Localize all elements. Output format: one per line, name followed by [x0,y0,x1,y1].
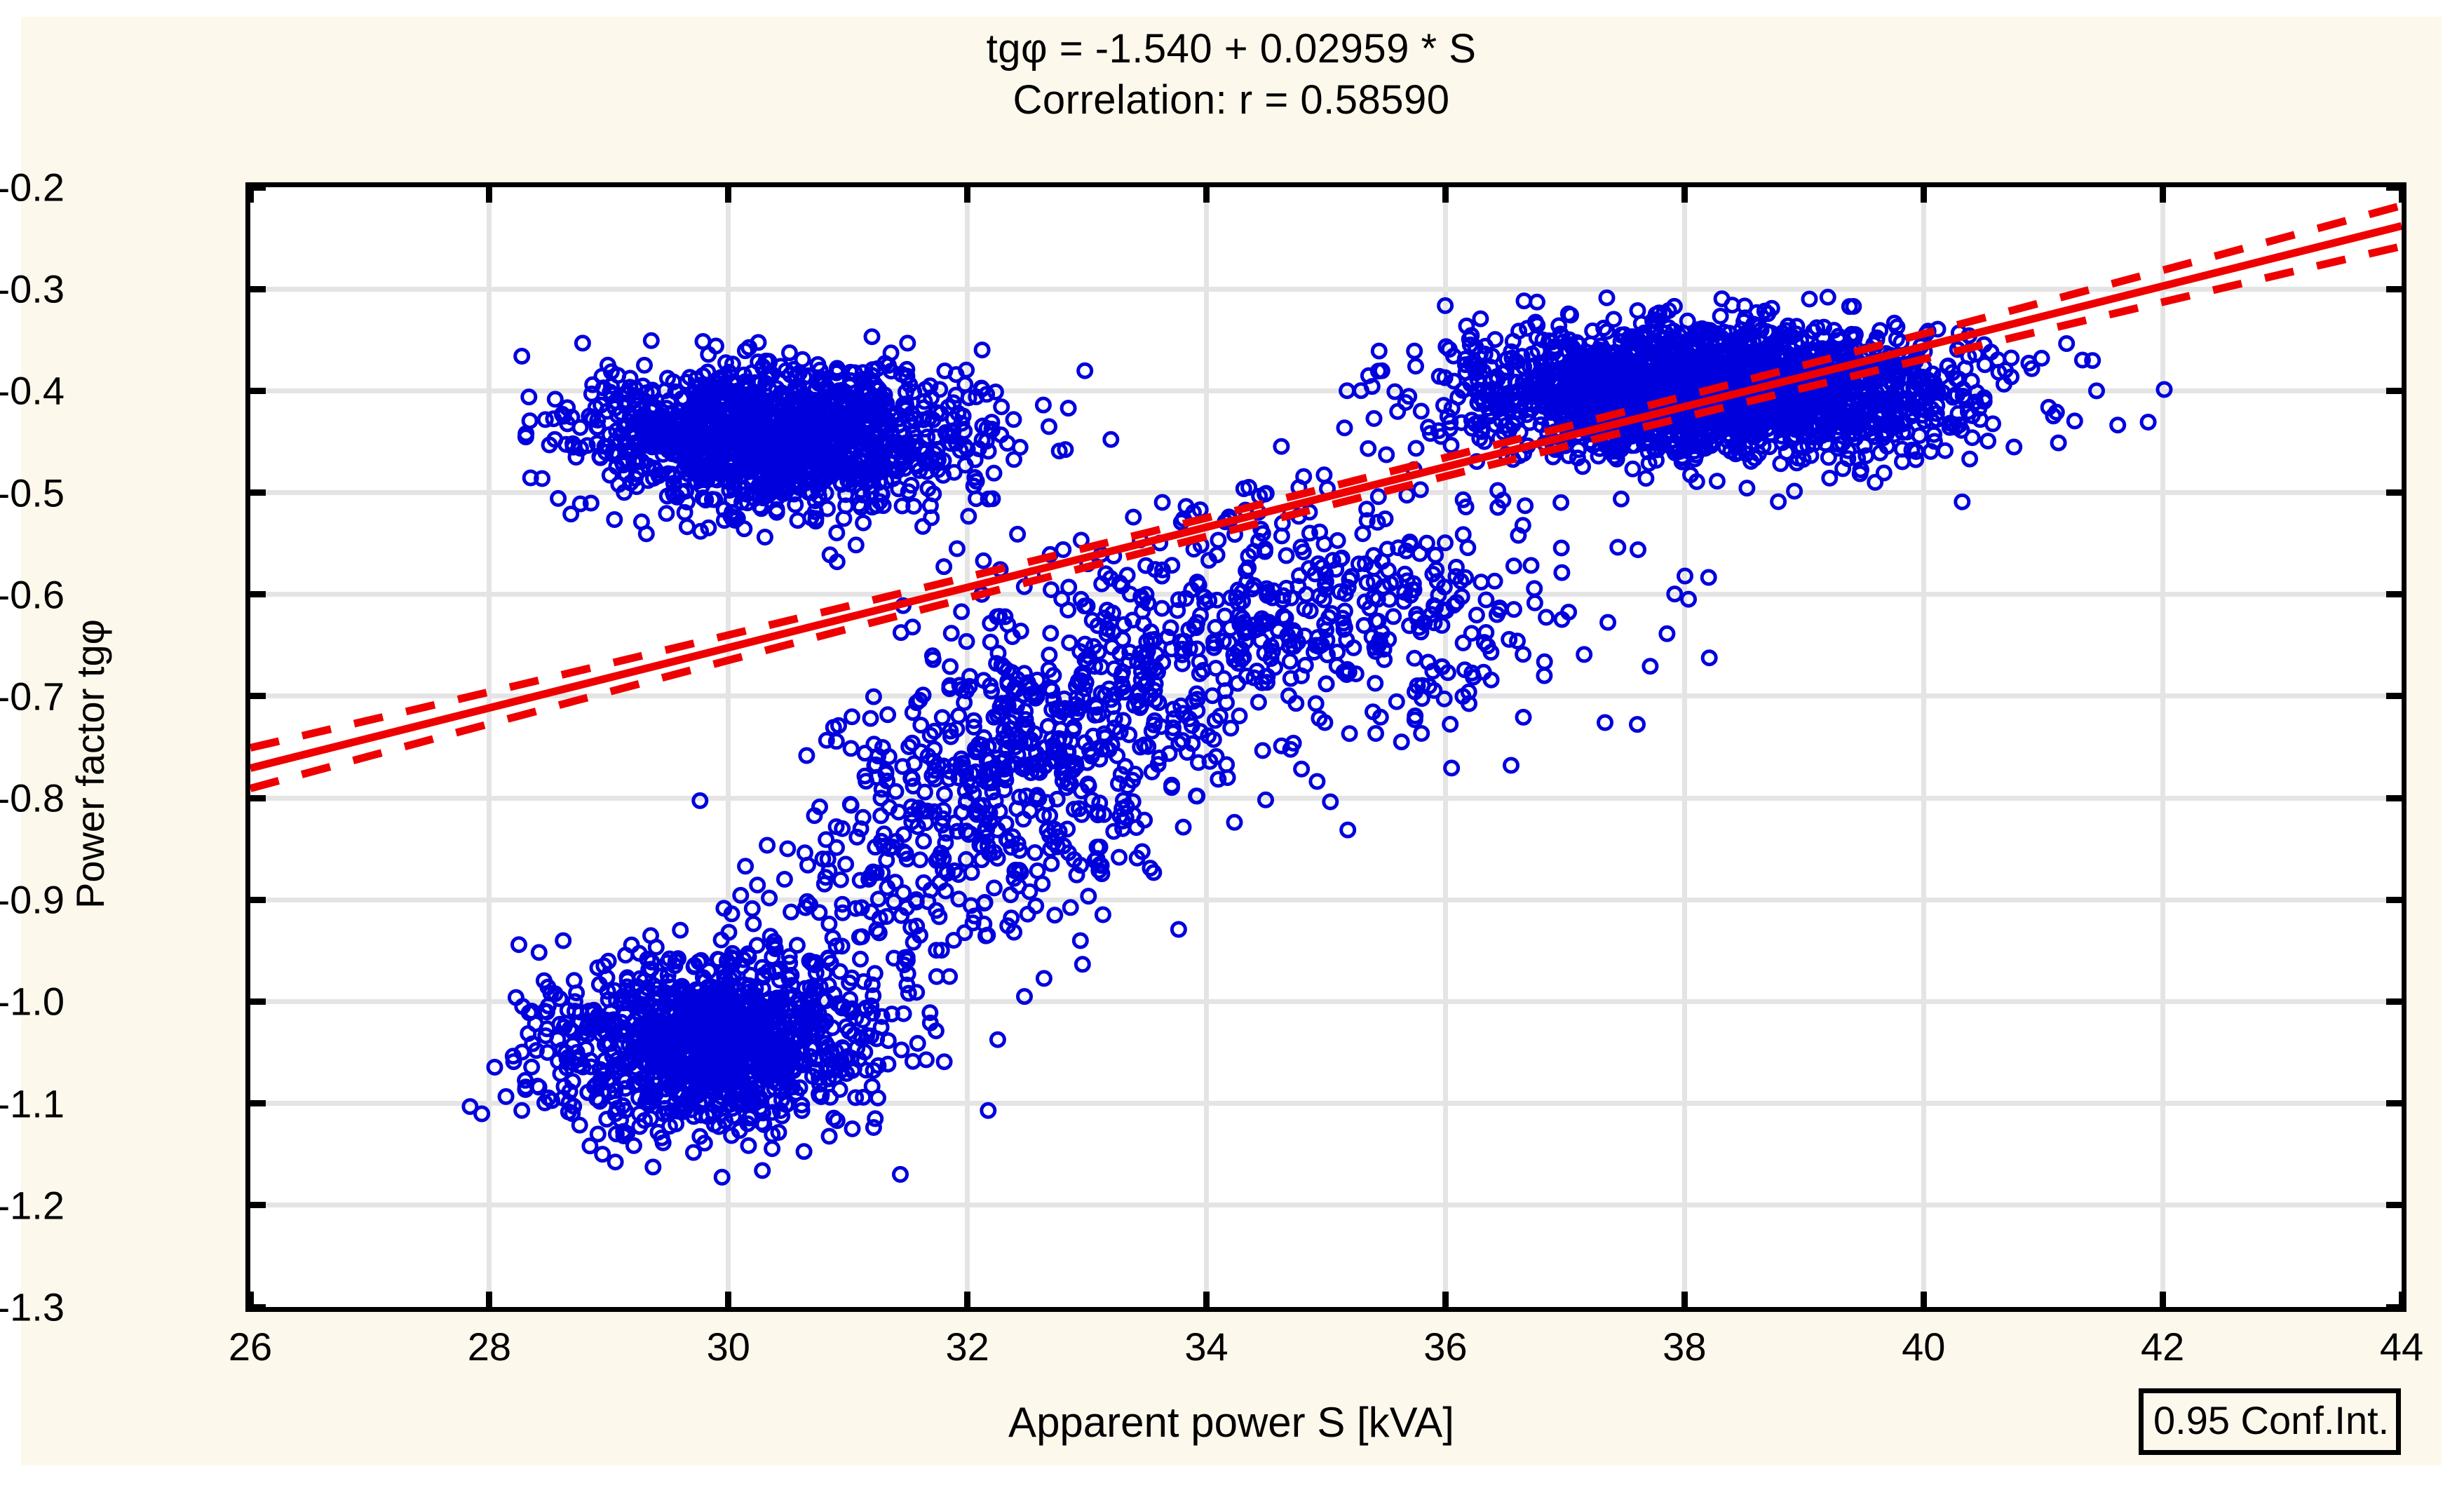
data-point [984,635,997,649]
data-point [1096,908,1109,921]
data-point [1036,398,1050,412]
data-point [800,749,813,762]
data-point [1372,344,1386,358]
data-point [609,1156,622,1169]
data-point [747,917,760,930]
data-point [911,1037,924,1050]
data-point [991,1033,1004,1046]
data-point [734,888,747,902]
data-point [1048,909,1062,922]
data-point [1228,815,1241,829]
chart-title-block: tgφ = -1.540 + 0.02959 * S Correlation: … [21,24,2442,126]
data-point [864,712,877,725]
data-point [1600,291,1613,304]
data-point [874,809,888,822]
data-point [564,508,578,521]
figure-canvas: tgφ = -1.540 + 0.02959 * S Correlation: … [21,17,2442,1465]
data-point [839,858,853,871]
data-point [1045,857,1058,870]
data-point [1963,452,1977,466]
data-point [1043,420,1056,433]
data-point [644,929,658,942]
plot-inner-canvas [250,187,2402,1307]
data-point [758,531,771,544]
data-point [515,350,529,363]
data-point [552,492,565,505]
data-point [1062,402,1075,415]
data-point [1064,901,1077,914]
data-point [960,635,973,648]
data-point [1013,440,1027,454]
data-point [1233,710,1246,723]
data-point [693,794,707,807]
data-point [557,934,570,947]
data-point [823,1130,836,1143]
data-point [881,708,895,722]
data-point [574,421,587,434]
data-point [906,1055,919,1068]
data-point [573,1118,586,1132]
data-point [917,834,930,848]
data-point [1082,890,1095,903]
data-point [833,1083,846,1096]
data-point [785,905,798,919]
data-point [583,1139,597,1153]
data-point [1063,636,1076,649]
data-point [1324,795,1337,808]
data-point [846,1122,859,1135]
data-point [2068,414,2081,428]
data-point [576,337,589,350]
data-point [1004,888,1017,902]
data-point [739,860,752,873]
data-point [834,873,847,886]
data-point [1256,744,1269,757]
data-point [1021,907,1034,921]
data-point [895,1043,908,1057]
data-point [849,539,862,552]
data-point [796,353,809,366]
correlation-title: Correlation: r = 0.58590 [21,74,2442,126]
data-point [763,891,776,905]
data-point [791,514,804,527]
data-point [962,510,975,523]
data-point [844,742,858,755]
data-point [1982,435,1995,448]
data-point [1076,958,1089,971]
data-point [2158,383,2171,396]
data-point [975,344,989,357]
data-point [1031,865,1044,878]
data-point [830,527,844,540]
data-point [1388,385,1402,398]
data-point [766,1142,779,1156]
data-point [647,1160,660,1174]
data-point [1156,496,1169,509]
data-point [894,1167,907,1181]
data-point [532,946,546,959]
data-point [522,391,536,404]
data-point [906,621,919,634]
plot-area [245,182,2407,1312]
data-point [945,627,958,640]
scatter-layer [250,187,2402,1307]
data-point [1607,313,1620,326]
data-point [1715,292,1728,306]
data-point [513,938,526,951]
data-point [1177,820,1190,834]
data-point [680,520,693,534]
data-point [918,785,931,799]
data-point [639,527,653,541]
data-point [1439,299,1452,312]
data-point [944,660,957,673]
data-point [1018,990,1031,1003]
data-point [937,1055,951,1069]
data-point [660,507,673,520]
data-point [858,747,872,760]
data-point [2090,384,2104,398]
data-point [995,400,1008,414]
data-point [935,711,949,724]
data-point [1113,851,1126,864]
data-point [781,842,794,855]
data-point [742,1139,755,1152]
data-point [867,1121,880,1135]
data-point [901,337,914,350]
data-point [644,334,658,347]
data-point [797,1145,811,1158]
data-point [1041,719,1055,733]
data-point [463,1100,477,1113]
data-point [1821,290,1834,304]
data-point [1259,793,1273,806]
data-point [1474,312,1487,325]
data-point [596,1148,609,1161]
data-point [1639,472,1653,485]
data-point [1956,495,1969,508]
data-point [958,926,971,940]
data-point [937,560,951,574]
data-point [761,839,774,852]
data-point [529,1017,542,1031]
data-point [1037,972,1050,985]
data-point [756,1164,769,1177]
data-point [1074,934,1087,947]
data-point [1172,923,1185,936]
data-point [987,881,1001,895]
data-point [1414,405,1428,418]
data-point [1710,475,1724,488]
data-point [1408,344,1421,358]
data-point [1078,364,1092,377]
data-point [1409,360,1423,373]
data-point [982,1104,995,1117]
data-point [1913,429,1926,442]
data-point [2008,440,2021,454]
data-point [1029,846,1042,860]
data-point [745,902,759,915]
data-point [1007,413,1020,426]
data-point [2111,419,2125,432]
data-point [1156,602,1169,615]
data-point [1869,475,1882,489]
regression-equation-title: tgφ = -1.540 + 0.02959 * S [21,24,2442,74]
data-point [1409,442,1423,455]
data-point [919,1053,933,1066]
data-point [857,516,870,529]
data-point [865,330,879,344]
data-point [950,542,963,555]
data-point [488,1061,501,1074]
data-point [674,923,687,937]
data-point [867,690,880,703]
data-point [1444,439,1458,452]
data-point [1295,762,1308,776]
data-point [1044,627,1057,640]
data-point [823,917,836,930]
data-point [1343,727,1356,740]
data-point [499,1090,513,1103]
data-point [608,513,621,527]
data-point [836,906,849,919]
data-point [854,952,867,966]
data-point [2060,337,2073,351]
data-point [790,939,804,952]
data-point [1367,412,1381,425]
data-point [1489,333,1502,346]
data-point [783,346,797,360]
data-point [638,358,651,372]
data-point [1555,496,1568,509]
data-point [1740,482,1754,495]
data-point [515,1104,529,1117]
data-point [959,853,973,866]
data-point [937,787,951,801]
data-point-group [463,290,2171,1184]
data-point [952,709,966,722]
data-point [778,873,791,886]
data-point [955,605,968,618]
data-point [987,466,1001,480]
data-point [1823,471,1836,485]
data-point [751,879,764,892]
data-point [715,1170,729,1184]
data-point [1338,421,1351,435]
data-point [1023,885,1036,898]
data-point [1788,485,1801,498]
data-point [846,710,859,724]
data-point [525,1060,539,1074]
